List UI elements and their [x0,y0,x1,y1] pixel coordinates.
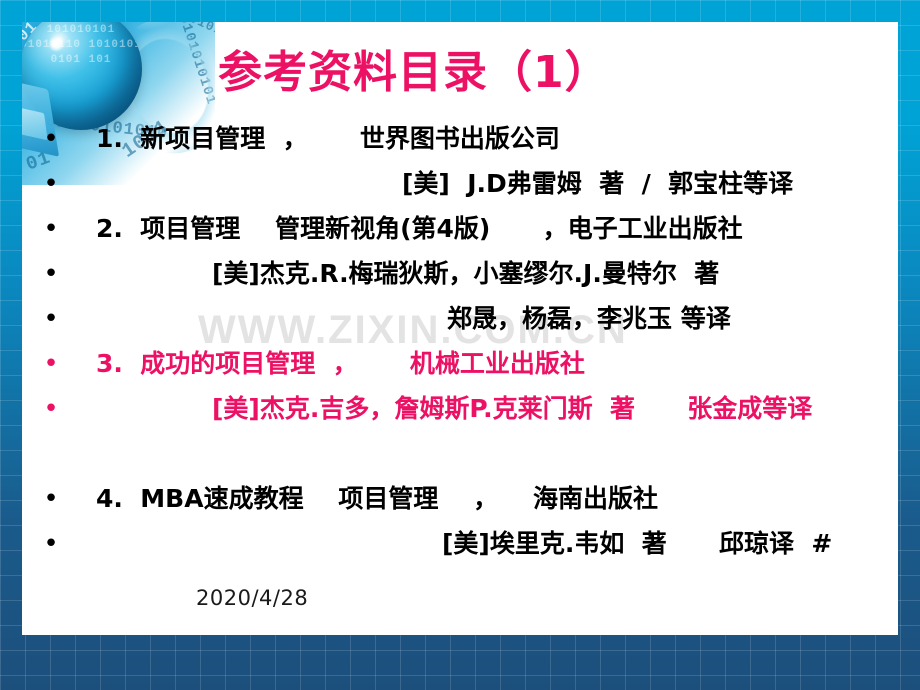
list-item-text: [美] J.D弗雷姆 著 / 郭宝柱等译 [72,171,892,197]
list-bullet-icon: • [30,126,72,152]
list-item-text: 郑晟，杨磊，李兆玉 等译 [72,306,892,332]
list-bullet-icon: • [30,216,72,242]
list-bullet-icon: • [30,351,72,377]
list-item-text: 2. 项目管理 管理新视角(第4版) ，电子工业出版社 [72,216,892,242]
list-bullet-icon: • [30,261,72,287]
list-item: •2. 项目管理 管理新视角(第4版) ，电子工业出版社 [30,216,892,261]
list-item-text: [美]埃里克.韦如 著 邱琼译 # [72,531,892,557]
list-item: •郑晟，杨磊，李兆玉 等译 [30,306,892,351]
list-bullet-icon: • [30,306,72,332]
page-title: 参考资料目录（1） [218,36,610,100]
list-item: •[美]埃里克.韦如 著 邱琼译 # [30,531,892,576]
list-item: •4. MBA速成教程 项目管理 ， 海南出版社 [30,486,892,531]
list-item-text: 1. 新项目管理 ， 世界图书出版公司 [72,126,892,152]
frame-border-bottom [0,635,920,690]
list-item-text: 3. 成功的项目管理 ， 机械工业出版社 [72,351,892,377]
list-bullet-icon: • [30,171,72,197]
binary-digits-decor: 0101010101 [175,13,215,107]
list-item: •[美] J.D弗雷姆 著 / 郭宝柱等译 [30,171,892,216]
globe-sphere-digits: 1010101 0101101 101010101 01010110 10101… [20,8,142,130]
list-item [30,441,892,486]
slide-canvas: 0101010101 1010101011 0110101010 1010101… [0,0,920,690]
list-item: •[美]杰克.R.梅瑞狄斯，小塞缪尔.J.曼特尔 著 [30,261,892,306]
list-item: •3. 成功的项目管理 ， 机械工业出版社 [30,351,892,396]
frame-border-right [898,0,920,690]
reference-list: •1. 新项目管理 ， 世界图书出版公司•[美] J.D弗雷姆 著 / 郭宝柱等… [30,126,892,576]
list-item-text: [美]杰克.吉多，詹姆斯P.克莱门斯 著 张金成等译 [72,396,892,422]
globe-sphere [20,8,142,130]
globe-specular-highlight [48,36,64,52]
frame-border-left [0,0,22,690]
list-item: •[美]杰克.吉多，詹姆斯P.克莱门斯 著 张金成等译 [30,396,892,441]
frame-border-top [0,0,920,22]
list-item-text: [美]杰克.R.梅瑞狄斯，小塞缪尔.J.曼特尔 著 [72,261,892,287]
list-bullet-icon: • [30,531,72,557]
slide-date: 2020/4/28 [196,586,308,610]
list-bullet-icon: • [30,396,72,422]
list-item: •1. 新项目管理 ， 世界图书出版公司 [30,126,892,171]
list-bullet-icon: • [30,486,72,512]
list-item-text: 4. MBA速成教程 项目管理 ， 海南出版社 [72,486,892,512]
